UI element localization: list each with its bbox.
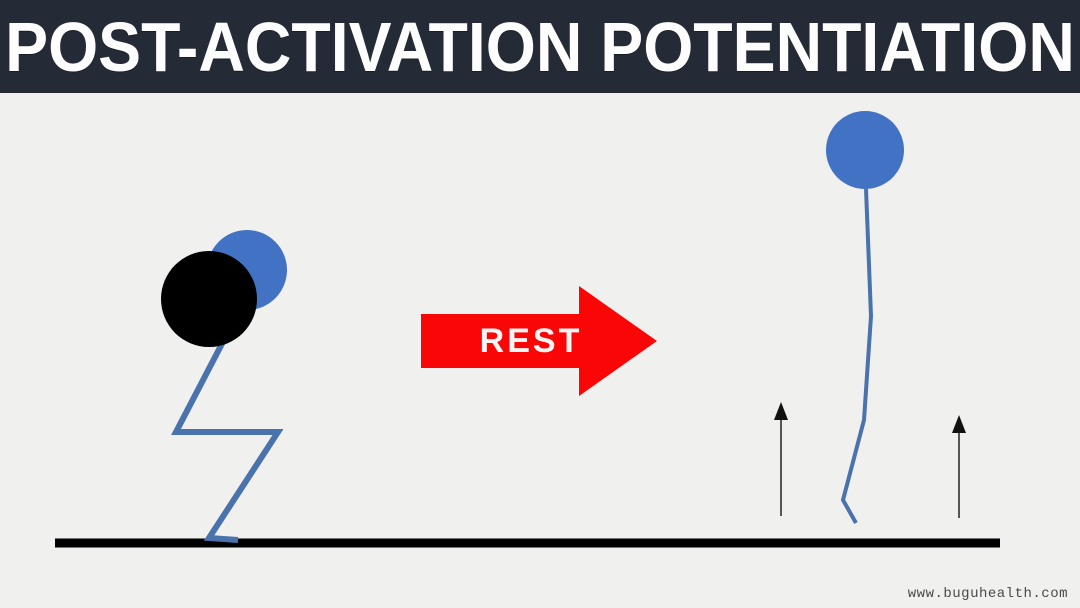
slide-canvas: POST-ACTIVATION POTENTIATION — [0, 0, 1080, 608]
motion-arrow-left — [774, 402, 788, 516]
header-bar: POST-ACTIVATION POTENTIATION — [0, 0, 1080, 93]
right-figure-head — [826, 111, 904, 189]
left-figure-group — [161, 230, 287, 540]
rest-arrow-shape — [421, 286, 657, 396]
arrow-up-head-icon — [774, 402, 788, 420]
watermark: www.buguhealth.com — [908, 586, 1068, 602]
page-title: POST-ACTIVATION POTENTIATION — [43, 0, 1037, 93]
rest-arrow-icon — [421, 283, 661, 399]
motion-arrow-right — [952, 415, 966, 518]
right-figure-group — [826, 111, 904, 523]
arrow-up-head-icon — [952, 415, 966, 433]
right-figure-body — [843, 189, 871, 523]
barbell-weight-icon — [161, 251, 257, 347]
left-figure-body — [176, 336, 278, 540]
